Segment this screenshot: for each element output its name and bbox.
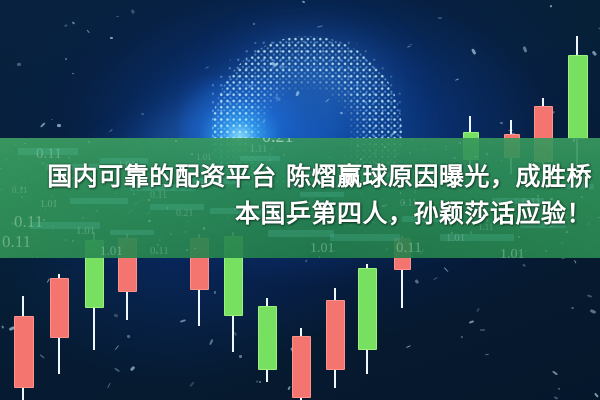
- candlestick-body: [14, 316, 34, 388]
- ghost-speck: [573, 139, 575, 141]
- ghost-speck: [271, 148, 273, 150]
- ghost-speck: [156, 252, 157, 253]
- candlestick-body: [50, 278, 69, 338]
- ghost-speck: [384, 146, 386, 148]
- ghost-speck: [157, 244, 159, 246]
- ghost-speck: [175, 140, 177, 142]
- ghost-speck: [88, 141, 90, 143]
- background-speck: [110, 37, 113, 39]
- ghost-speck: [211, 257, 212, 258]
- ghost-speck: [561, 242, 563, 244]
- ghost-speck: [170, 233, 172, 235]
- ghost-speck: [423, 148, 425, 150]
- ghost-data-bar: [440, 234, 514, 241]
- candlestick-body: [568, 55, 588, 139]
- ghost-speck: [37, 138, 38, 139]
- ghost-speck: [162, 257, 164, 258]
- ghost-speck: [406, 252, 407, 253]
- headline-line-2: 本国乒第四人，孙颖莎话应验！: [0, 195, 592, 232]
- ghost-speck: [433, 255, 434, 256]
- background-speck: [480, 329, 485, 331]
- headline-line-1: 国内可靠的配资平台 陈熠赢球原因曝光，成胜桥: [0, 158, 592, 195]
- ghost-speck: [486, 153, 488, 155]
- ghost-speck: [475, 156, 476, 157]
- ghost-speck: [269, 153, 271, 155]
- background-speck: [500, 121, 503, 123]
- ghost-data-bar: [18, 148, 78, 155]
- ghost-speck: [191, 153, 192, 154]
- ghost-speck: [395, 153, 397, 155]
- candlestick-body: [292, 336, 311, 398]
- ghost-speck: [72, 240, 74, 242]
- candlestick-body: [258, 306, 277, 370]
- ghost-speck: [62, 151, 63, 152]
- background-speck: [557, 387, 559, 389]
- ghost-speck: [451, 232, 453, 234]
- ghost-data-bar: [330, 234, 400, 241]
- headline-text: 国内可靠的配资平台 陈熠赢球原因曝光，成胜桥 本国乒第四人，孙颖莎话应验！: [0, 158, 600, 232]
- candlestick-body: [358, 268, 377, 350]
- candlestick-body: [326, 300, 345, 370]
- news-banner-image: 0.111.010.210.111.010.110.111.011.010.11…: [0, 0, 600, 400]
- ghost-speck: [159, 239, 161, 241]
